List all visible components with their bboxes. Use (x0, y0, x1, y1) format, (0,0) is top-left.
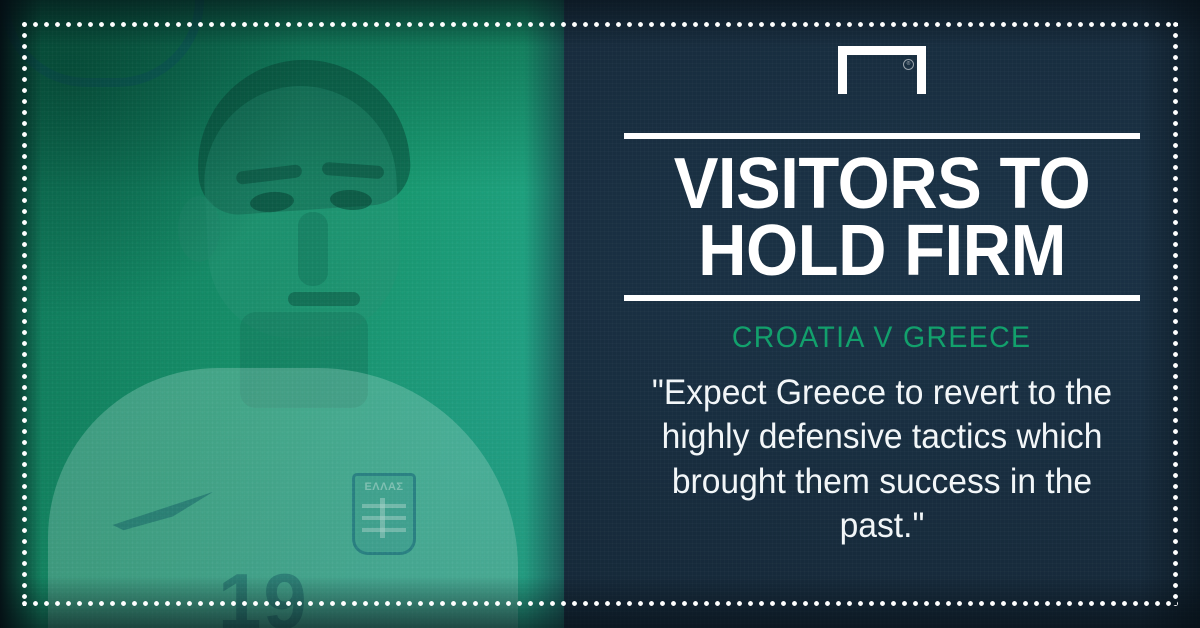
registered-mark-icon: ® (903, 59, 914, 70)
rule-below-headline (624, 295, 1140, 301)
goalpost-left-post (838, 46, 847, 94)
headline: VISITORS TO HOLD FIRM (622, 151, 1143, 285)
content-panel: ® VISITORS TO HOLD FIRM CROATIA V GREECE… (564, 0, 1200, 628)
halftone-pattern (0, 0, 564, 628)
headline-line-2: HOLD FIRM (622, 218, 1143, 285)
quote-card-graphic: ΕΛΛΑΣ 19 ® VISITORS TO HOLD FIRM CROATIA… (0, 0, 1200, 628)
goalpost-icon: ® (838, 46, 926, 94)
goalpost-right-post (917, 46, 926, 94)
photo-edge-fade (524, 0, 564, 628)
rule-above-headline (624, 133, 1140, 139)
quote-text: "Expect Greece to revert to the highly d… (642, 371, 1122, 549)
quote-line-1: "Expect Greece to revert to (652, 373, 1056, 412)
headline-line-1: VISITORS TO (622, 151, 1143, 218)
player-photo-panel: ΕΛΛΑΣ 19 (0, 0, 564, 628)
goalpost-crossbar (838, 46, 926, 55)
fixture-subtitle: CROATIA V GREECE (732, 321, 1031, 355)
